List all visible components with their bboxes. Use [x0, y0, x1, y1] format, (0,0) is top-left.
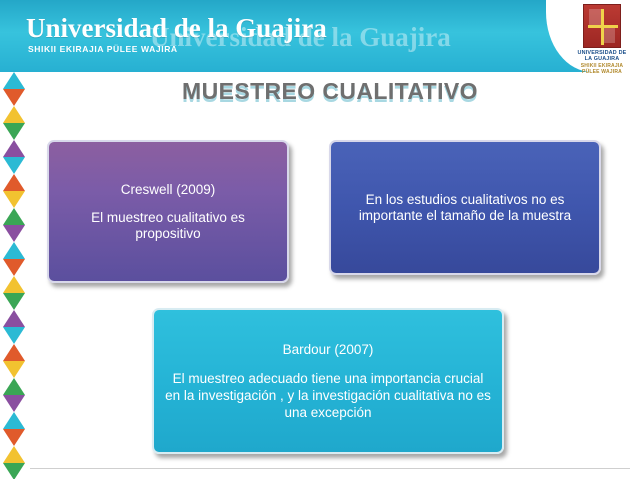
content-box-bardour: Bardour (2007) El muestreo adecuado tien…: [152, 308, 504, 454]
border-chevron: [3, 157, 25, 174]
header-subtitle: SHIKII EKIRAJIA PÜLEE WAJIRA: [28, 44, 178, 54]
header-title: Universidad de la Guajira: [26, 13, 327, 44]
border-chevron: [3, 191, 25, 208]
border-chevron: [3, 106, 25, 123]
border-chevron: [3, 463, 25, 479]
border-chevron: [3, 174, 25, 191]
border-chevron: [3, 378, 25, 395]
shield-icon: [583, 4, 621, 48]
university-logo: UNIVERSIDAD DE LA GUAJIRA SHIKII EKIRAJI…: [574, 4, 630, 78]
border-chevron: [3, 344, 25, 361]
border-chevron: [3, 259, 25, 276]
page-title: MUESTREO CUALITATIVO: [30, 78, 630, 105]
content-box-estudios: En los estudios cualitativos no es impor…: [329, 140, 601, 275]
logo-label-secondary: SHIKII EKIRAJIA PÜLEE WAJIRA: [574, 63, 630, 75]
content-box-bardour-heading: Bardour (2007): [164, 341, 492, 358]
slide-title-group: MUESTREO CUALITATIVO MUESTREO CUALITATIV…: [30, 78, 630, 105]
border-chevron: [3, 208, 25, 225]
border-chevron: [3, 140, 25, 157]
content-box-creswell-body: El muestreo cualitativo es propositivo: [59, 210, 277, 242]
content-box-estudios-body: En los estudios cualitativos no es impor…: [341, 192, 589, 224]
border-chevron: [3, 327, 25, 344]
border-chevron: [3, 361, 25, 378]
border-chevron: [3, 310, 25, 327]
content-box-creswell: Creswell (2009) El muestreo cualitativo …: [47, 140, 289, 283]
border-chevron: [3, 225, 25, 242]
content-box-bardour-body: El muestreo adecuado tiene una importanc…: [164, 370, 492, 421]
logo-label-primary: UNIVERSIDAD DE LA GUAJIRA: [574, 50, 630, 62]
border-chevron: [3, 395, 25, 412]
border-chevron: [3, 446, 25, 463]
content-box-creswell-heading: Creswell (2009): [59, 182, 277, 198]
border-chevron: [3, 412, 25, 429]
border-chevron: [3, 429, 25, 446]
border-chevron: [3, 293, 25, 310]
decorative-left-border: [0, 72, 30, 479]
footer-divider: [30, 468, 630, 469]
border-chevron: [3, 242, 25, 259]
border-chevron: [3, 276, 25, 293]
slide-canvas: Universidad de la Guajira Universidad de…: [0, 0, 638, 479]
border-chevron: [3, 72, 25, 89]
border-chevron: [3, 123, 25, 140]
header-banner: Universidad de la Guajira Universidad de…: [0, 0, 638, 72]
border-chevron: [3, 89, 25, 106]
